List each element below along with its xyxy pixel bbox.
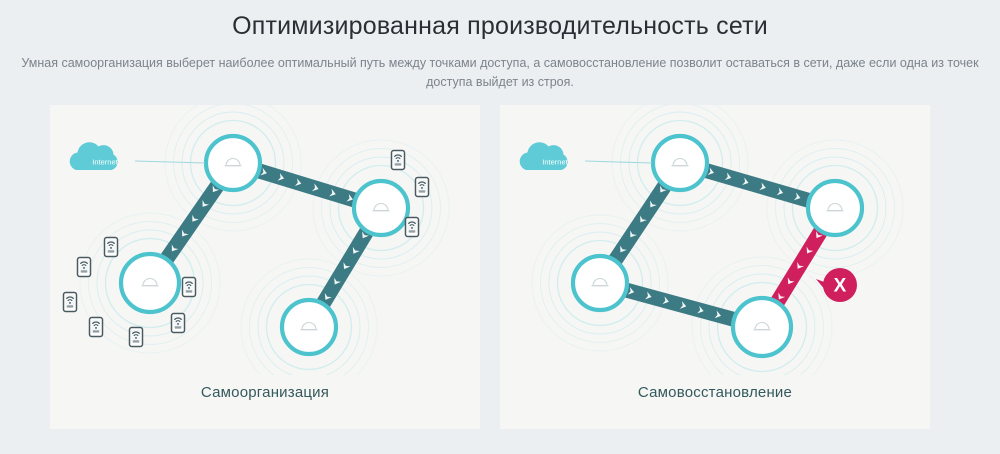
access-point-inner [286,304,332,350]
diagram-self-healing: InternetX [500,105,930,375]
client-device[interactable] [406,218,419,237]
link-active [701,162,814,208]
link-failure-badge[interactable]: X [816,268,857,302]
badge-layer: X [816,268,857,302]
links-layer [607,162,829,327]
device-wifi-dot-icon [188,287,190,289]
access-point-inner [577,260,623,306]
access-point-bottom[interactable] [282,300,336,354]
client-device[interactable] [105,238,118,257]
access-point-bottom-left[interactable] [573,256,627,310]
panel-caption-self-organizing: Самоорганизация [50,384,480,401]
access-point-bottom-right[interactable] [733,298,791,356]
device-wifi-dot-icon [83,267,85,269]
client-device[interactable] [392,151,405,170]
device-wifi-dot-icon [411,227,413,229]
client-device[interactable] [78,258,91,277]
device-label-bar [108,250,114,252]
client-device[interactable] [64,293,77,312]
link-active [159,178,226,265]
device-label-bar [419,190,425,192]
device-label-bar [175,326,181,328]
link-active [607,179,673,267]
access-point-inner [657,140,703,186]
client-device[interactable] [172,314,185,333]
cloud-label: Internet [542,158,568,167]
access-point-inner [737,302,787,352]
client-device[interactable] [183,278,196,297]
panel-caption-self-healing: Самовосстановление [500,384,930,401]
device-wifi-dot-icon [135,337,137,339]
access-point-inner [210,140,256,186]
device-wifi-dot-icon [421,187,423,189]
feature-panels: Internet Самоорганизация InternetX Самов… [50,105,930,429]
cloud-link-line [585,161,652,163]
page-subtitle: Умная самоорганизация выберет наиболее о… [10,42,990,92]
client-device[interactable] [90,318,103,337]
diagram-self-organizing: Internet [50,105,480,375]
link-active [315,225,375,311]
device-label-bar [133,340,139,342]
device-label-bar [409,230,415,232]
client-device[interactable] [416,178,429,197]
access-point-top-left[interactable] [653,136,707,190]
cloud-label: Internet [92,158,118,167]
link-failed [769,225,829,309]
link-band [701,162,814,208]
device-wifi-dot-icon [177,323,179,325]
panel-self-healing: InternetX Самовосстановление [500,105,930,429]
link-band [607,179,673,267]
device-label-bar [395,163,401,165]
link-active [621,282,739,327]
access-point-top-left[interactable] [206,136,260,190]
access-point-right[interactable] [354,181,408,235]
page-root: Оптимизированная производительность сети… [0,0,1000,454]
link-band [621,282,739,327]
mesh-network-diagram: Internet [50,105,480,375]
device-label-bar [93,330,99,332]
device-wifi-dot-icon [397,160,399,162]
link-band [159,178,226,265]
page-header: Оптимизированная производительность сети… [0,0,1000,92]
access-point-bottom-left[interactable] [121,254,179,312]
device-label-bar [81,270,87,272]
access-point-inner [358,185,404,231]
mesh-network-diagram: InternetX [500,105,930,375]
cloud-link-line [135,161,205,163]
page-title: Оптимизированная производительность сети [0,0,1000,42]
device-label-bar [67,305,73,307]
device-wifi-dot-icon [110,247,112,249]
device-wifi-dot-icon [95,327,97,329]
access-point-inner [125,258,175,308]
badge-x-icon: X [834,276,847,297]
device-wifi-dot-icon [69,302,71,304]
signal-rings-layer [532,105,903,375]
access-point-inner [812,185,858,231]
client-device[interactable] [130,328,143,347]
panel-self-organizing: Internet Самоорганизация [50,105,480,429]
device-label-bar [186,290,192,292]
access-point-top-right[interactable] [808,181,862,235]
